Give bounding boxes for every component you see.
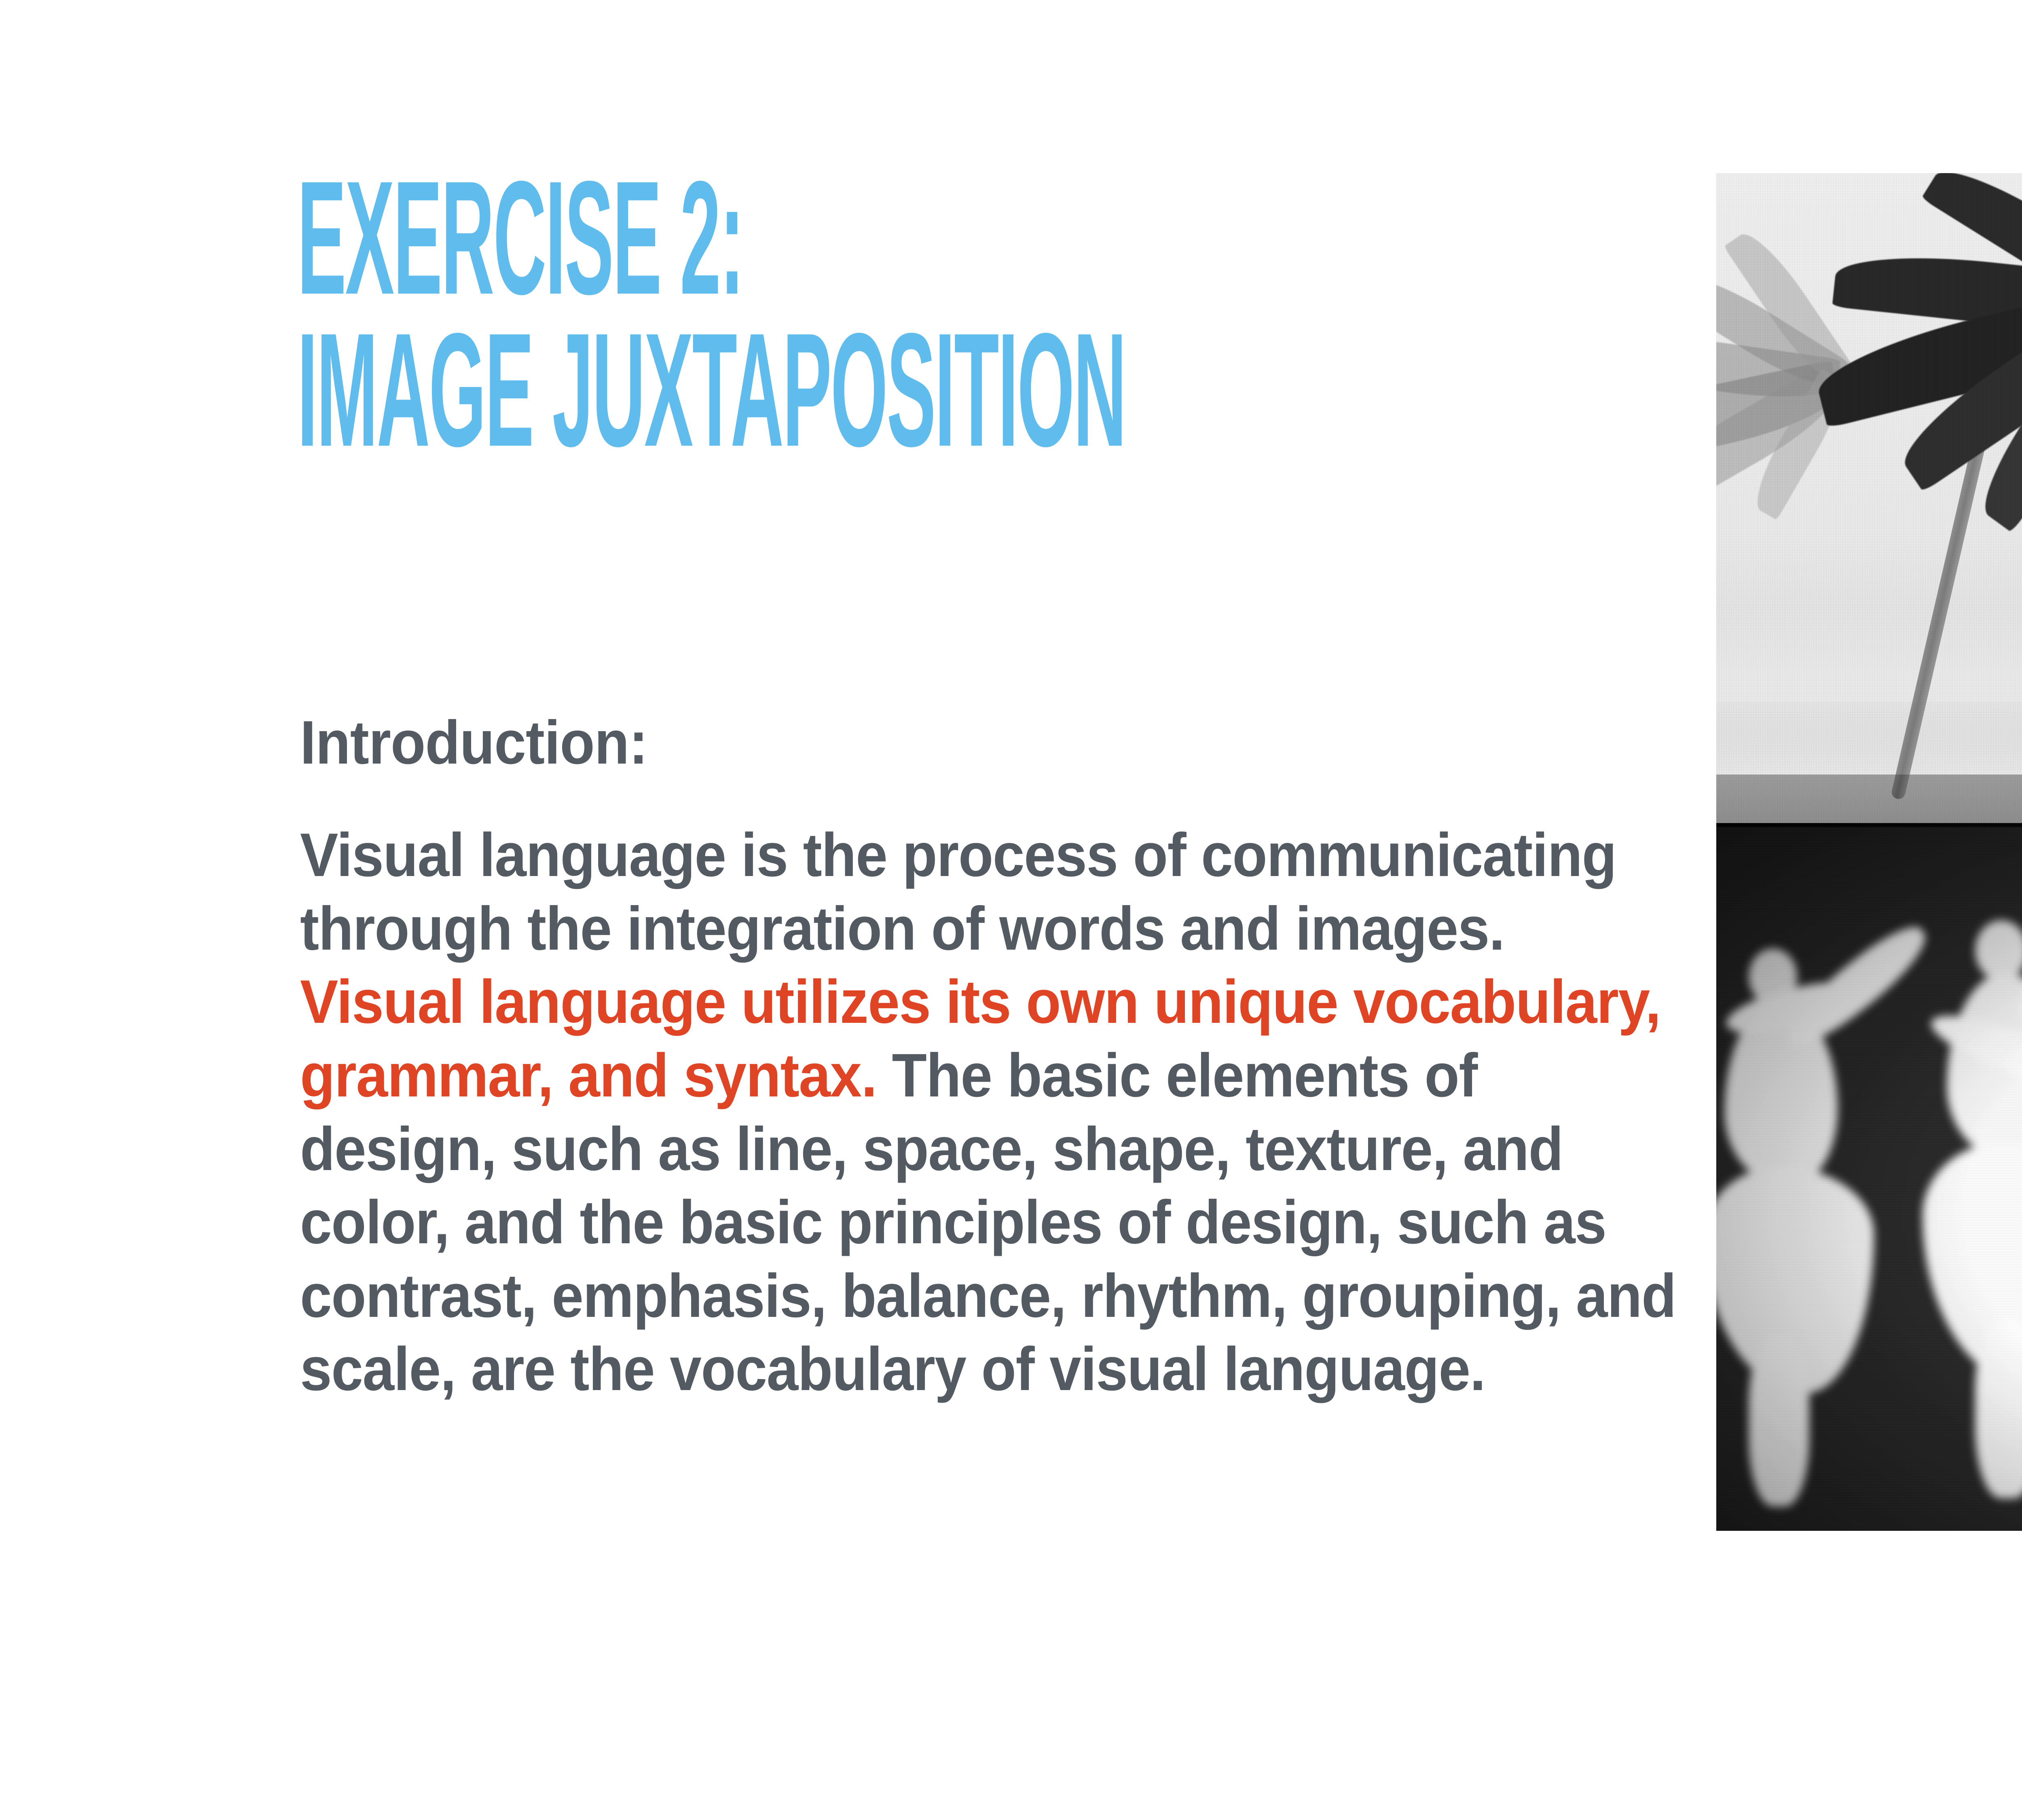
introduction-paragraph: Visual language is the process of commun… xyxy=(300,819,1677,1406)
title-line-1: EXERCISE 2: xyxy=(297,162,923,314)
introduction-heading: Introduction: xyxy=(300,712,1586,773)
palm-trees-in-storm-photo xyxy=(1716,173,2022,823)
image-juxtaposition-stack xyxy=(1716,173,2022,1531)
dancers-in-motion-photo xyxy=(1716,823,2022,1531)
dancers-photo-vignette xyxy=(1716,823,2022,1531)
slide-canvas: EXERCISE 2: IMAGE JUXTAPOSITION Introduc… xyxy=(0,0,2022,1820)
paragraph-segment-1: Visual language is the process of commun… xyxy=(300,821,1616,963)
title-line-2: IMAGE JUXTAPOSITION xyxy=(297,314,923,466)
storm-photo-grain xyxy=(1716,173,2022,823)
body-text-column: Introduction: Visual language is the pro… xyxy=(300,712,1683,1406)
page-title: EXERCISE 2: IMAGE JUXTAPOSITION xyxy=(297,162,1672,466)
